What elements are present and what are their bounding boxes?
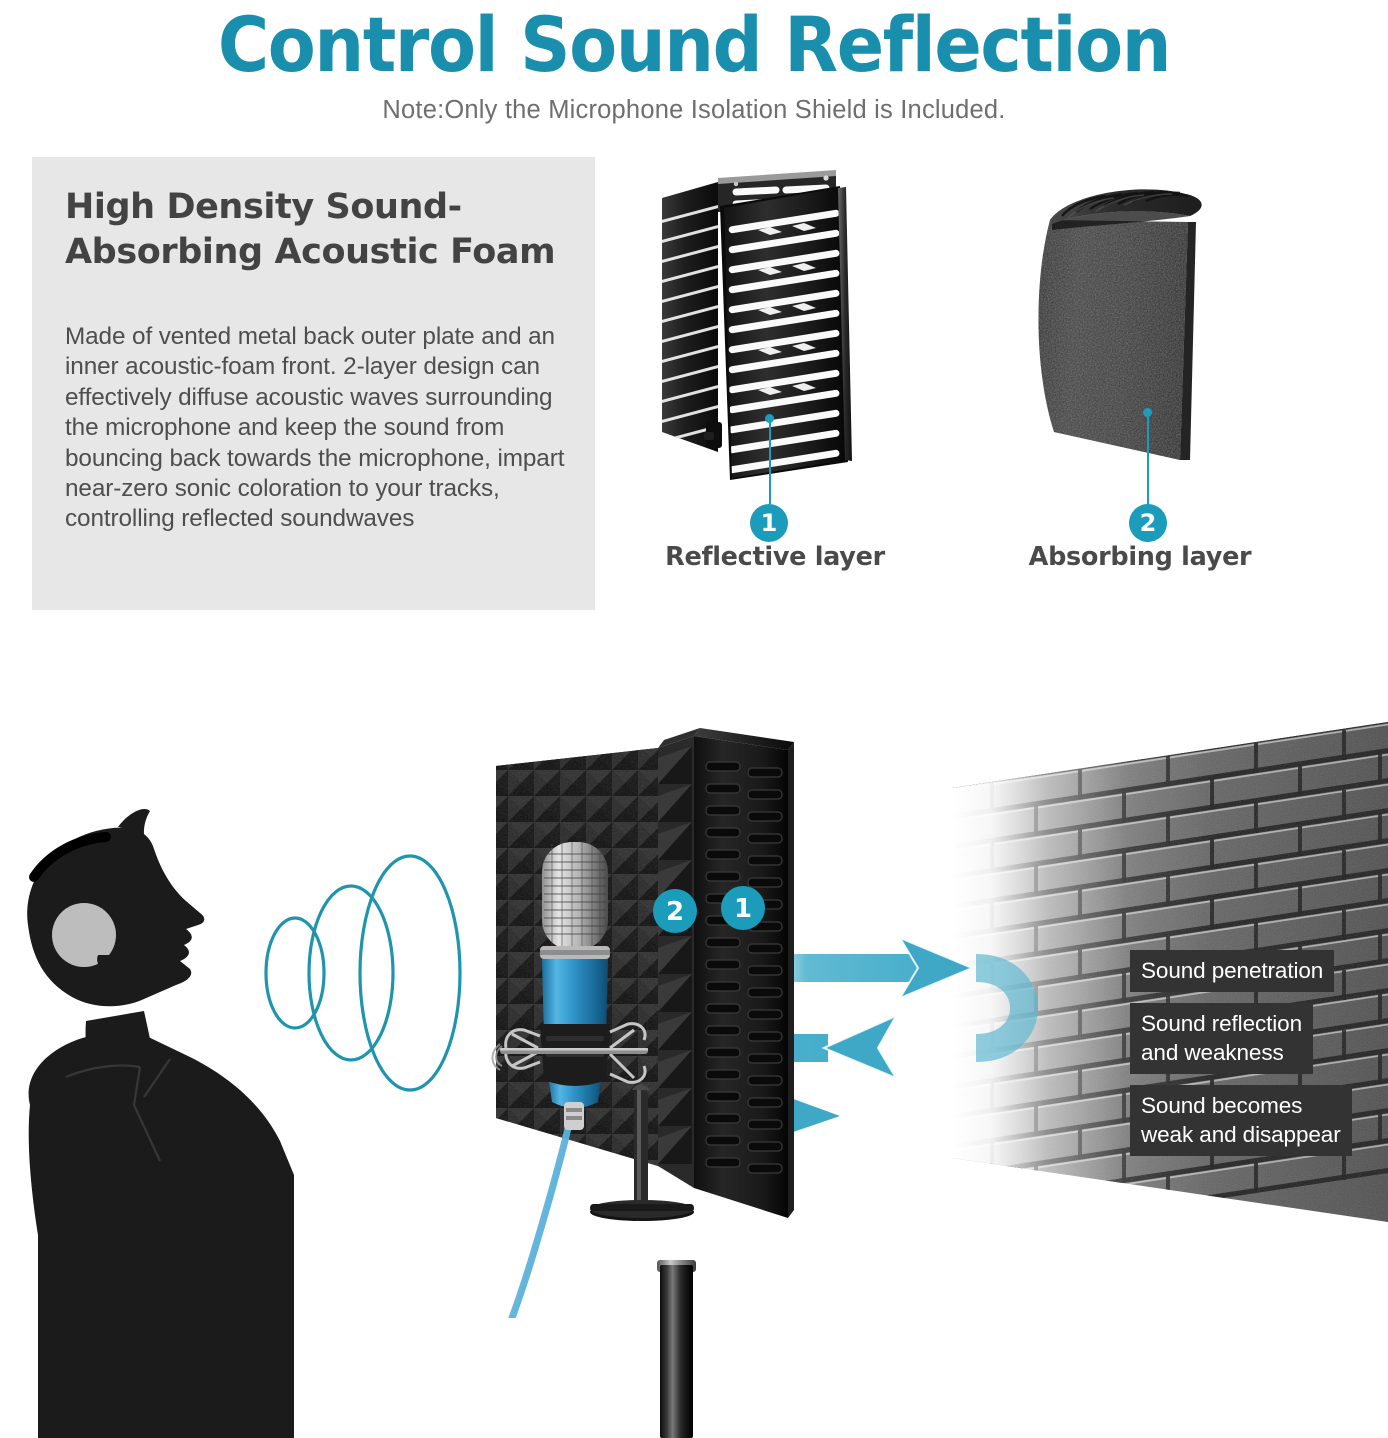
sound-wave-ring-2: [309, 886, 393, 1060]
condenser-microphone-icon: [540, 842, 610, 1108]
microphone-cable: [512, 1110, 572, 1318]
absorbing-leader-line: [1147, 412, 1149, 504]
sound-reflection-scene: Sound penetration Sound reflection and w…: [0, 660, 1388, 1438]
absorbing-layer-caption: Absorbing layer: [990, 542, 1290, 572]
reflective-layer-badge: 1: [750, 504, 788, 542]
microphone-stand-pole: [660, 1265, 693, 1438]
feature-heading: High Density Sound-Absorbing Acoustic Fo…: [65, 185, 565, 275]
acoustic-foam-sheet-icon: [990, 160, 1290, 480]
shield-callout-1: 1: [721, 886, 765, 930]
vented-metal-panel-icon: [640, 160, 910, 480]
wall-label-sound-reflection: Sound reflection and weakness: [1130, 1003, 1313, 1074]
svg-text:2: 2: [666, 897, 684, 927]
shield-callout-2: 2: [653, 889, 697, 933]
inclusion-note: Note:Only the Microphone Isolation Shiel…: [0, 96, 1388, 125]
wall-label-sound-penetration: Sound penetration: [1130, 950, 1334, 992]
feature-description-panel: High Density Sound-Absorbing Acoustic Fo…: [32, 157, 595, 610]
absorbing-layer-badge: 2: [1129, 504, 1167, 542]
page-header: Control Sound Reflection Note:Only the M…: [0, 0, 1388, 140]
microphone-isolation-shield: 2 1: [482, 718, 822, 1318]
wall-label-sound-disappearing: Sound becomes weak and disappear: [1130, 1085, 1352, 1156]
page-title: Control Sound Reflection: [56, 2, 1333, 88]
reflective-layer-card: 1 Reflective layer: [640, 160, 910, 580]
reflective-leader-line: [769, 418, 771, 504]
sound-wave-ring-3: [360, 856, 460, 1090]
reflective-layer-caption: Reflective layer: [640, 542, 910, 572]
person-with-headphones-silhouette-icon: [0, 805, 314, 1438]
svg-text:1: 1: [734, 894, 752, 924]
feature-body-text: Made of vented metal back outer plate an…: [65, 322, 585, 535]
absorbing-layer-card: 2 Absorbing layer: [990, 160, 1290, 580]
